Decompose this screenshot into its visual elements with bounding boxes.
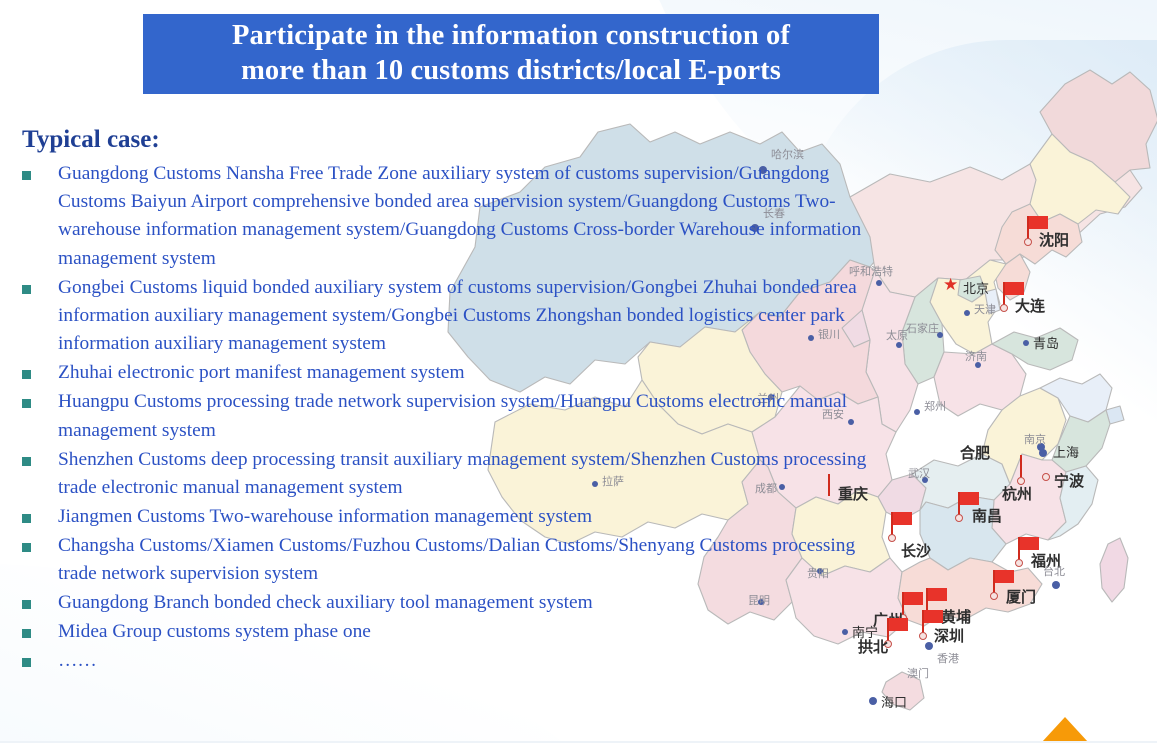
slide-canvas: 哈尔滨 长春 沈阳 大连 呼和浩特 ★ 北京 天津 石家庄 银川 太原 济南 青… — [0, 0, 1157, 743]
bullet-square-icon — [22, 514, 31, 523]
list-item: …… — [22, 647, 880, 675]
map-ring-dalian — [1000, 304, 1008, 312]
list-item-label: Changsha Customs/Xiamen Customs/Fuzhou C… — [58, 532, 880, 589]
list-item-label: Huangpu Customs processing trade network… — [58, 388, 880, 445]
map-ring-xiamen — [990, 592, 998, 600]
bullet-square-icon — [22, 399, 31, 408]
title-line-1: Participate in the information construct… — [232, 20, 790, 51]
title-text: Participate in the information construct… — [218, 19, 804, 89]
list-item: Huangpu Customs processing trade network… — [22, 388, 880, 445]
map-label-jinan: 济南 — [965, 345, 987, 364]
map-label-shenyang: 沈阳 — [1039, 229, 1069, 250]
map-ring-shenzhen — [919, 632, 927, 640]
map-label-beijing: 北京 — [963, 278, 989, 297]
map-label-taiyuan: 太原 — [886, 324, 908, 343]
map-label-haikou: 海口 — [881, 692, 907, 711]
list-item-label: Jiangmen Customs Two-warehouse informati… — [58, 503, 880, 531]
map-label-tianjin: 天津 — [974, 298, 996, 317]
page-title: Typical case: — [22, 126, 880, 154]
map-dot-taipei — [1052, 581, 1060, 589]
map-ring-changsha — [888, 534, 896, 542]
list-item: Midea Group customs system phase one — [22, 618, 880, 646]
list-item-label: Midea Group customs system phase one — [58, 618, 880, 646]
map-ring-shenyang — [1024, 238, 1032, 246]
map-dot-tianjin — [964, 310, 970, 316]
map-dot-qingdao — [1023, 340, 1029, 346]
bullet-square-icon — [22, 370, 31, 379]
bullet-square-icon — [22, 658, 31, 667]
map-ring-nanchang — [955, 514, 963, 522]
map-label-hangzhou: 杭州 — [1002, 483, 1032, 504]
map-label-shijiazhuang: 石家庄 — [906, 317, 939, 336]
map-label-xiamen: 厦门 — [1006, 586, 1036, 607]
list-item: Guangdong Branch bonded check auxiliary … — [22, 589, 880, 617]
list-item-label: Gongbei Customs liquid bonded auxiliary … — [58, 274, 880, 359]
list-item: Shenzhen Customs deep processing transit… — [22, 446, 880, 503]
bullet-square-icon — [22, 543, 31, 552]
map-label-hefei: 合肥 — [960, 442, 990, 463]
list-item-label: Guangdong Branch bonded check auxiliary … — [58, 589, 880, 617]
bullet-square-icon — [22, 600, 31, 609]
list-item: Guangdong Customs Nansha Free Trade Zone… — [22, 160, 880, 274]
map-ring-fuzhou — [1015, 559, 1023, 567]
map-dot-shanghai — [1039, 449, 1047, 457]
bullet-square-icon — [22, 629, 31, 638]
map-label-shanghai: 上海 — [1053, 442, 1079, 461]
map-dot-hongkong — [925, 642, 933, 650]
map-dot-zhengzhou — [914, 409, 920, 415]
map-label-wuhan: 武汉 — [908, 462, 930, 481]
map-label-ningbo: 宁波 — [1054, 470, 1084, 491]
orange-triangle-icon — [1042, 717, 1088, 742]
map-label-taipei: 台北 — [1043, 560, 1065, 579]
list-item: Changsha Customs/Xiamen Customs/Fuzhou C… — [22, 532, 880, 589]
map-label-shenzhen: 深圳 — [934, 625, 964, 646]
map-ring-ningbo — [1042, 473, 1050, 481]
content-area: Typical case: Guangdong Customs Nansha F… — [0, 126, 880, 676]
title-banner: Participate in the information construct… — [143, 14, 879, 94]
list-item: Zhuhai electronic port manifest manageme… — [22, 359, 880, 387]
bullet-square-icon — [22, 457, 31, 466]
map-label-hongkong: 香港 — [937, 647, 959, 666]
map-label-huangpu: 黄埔 — [941, 606, 971, 627]
map-label-macau: 澳门 — [907, 662, 929, 681]
map-label-changsha: 长沙 — [901, 540, 931, 561]
map-label-qingdao: 青岛 — [1033, 333, 1059, 352]
list-item-label: Zhuhai electronic port manifest manageme… — [58, 359, 880, 387]
bullet-square-icon — [22, 285, 31, 294]
list-item-label: Shenzhen Customs deep processing transit… — [58, 446, 880, 503]
map-label-nanchang: 南昌 — [972, 505, 1002, 526]
bullet-square-icon — [22, 171, 31, 180]
map-star-beijing: ★ — [943, 276, 958, 293]
list-item-label: …… — [58, 647, 880, 675]
map-label-nanjing: 南京 — [1024, 428, 1046, 447]
map-dot-haikou — [869, 697, 877, 705]
title-line-2: more than 10 customs districts/local E-p… — [241, 55, 781, 86]
list-item-label: Guangdong Customs Nansha Free Trade Zone… — [58, 160, 880, 274]
map-label-zhengzhou: 郑州 — [924, 395, 946, 414]
list-item: Jiangmen Customs Two-warehouse informati… — [22, 503, 880, 531]
case-bullet-list: Guangdong Customs Nansha Free Trade Zone… — [0, 160, 880, 676]
map-label-dalian: 大连 — [1015, 295, 1045, 316]
list-item: Gongbei Customs liquid bonded auxiliary … — [22, 274, 880, 359]
